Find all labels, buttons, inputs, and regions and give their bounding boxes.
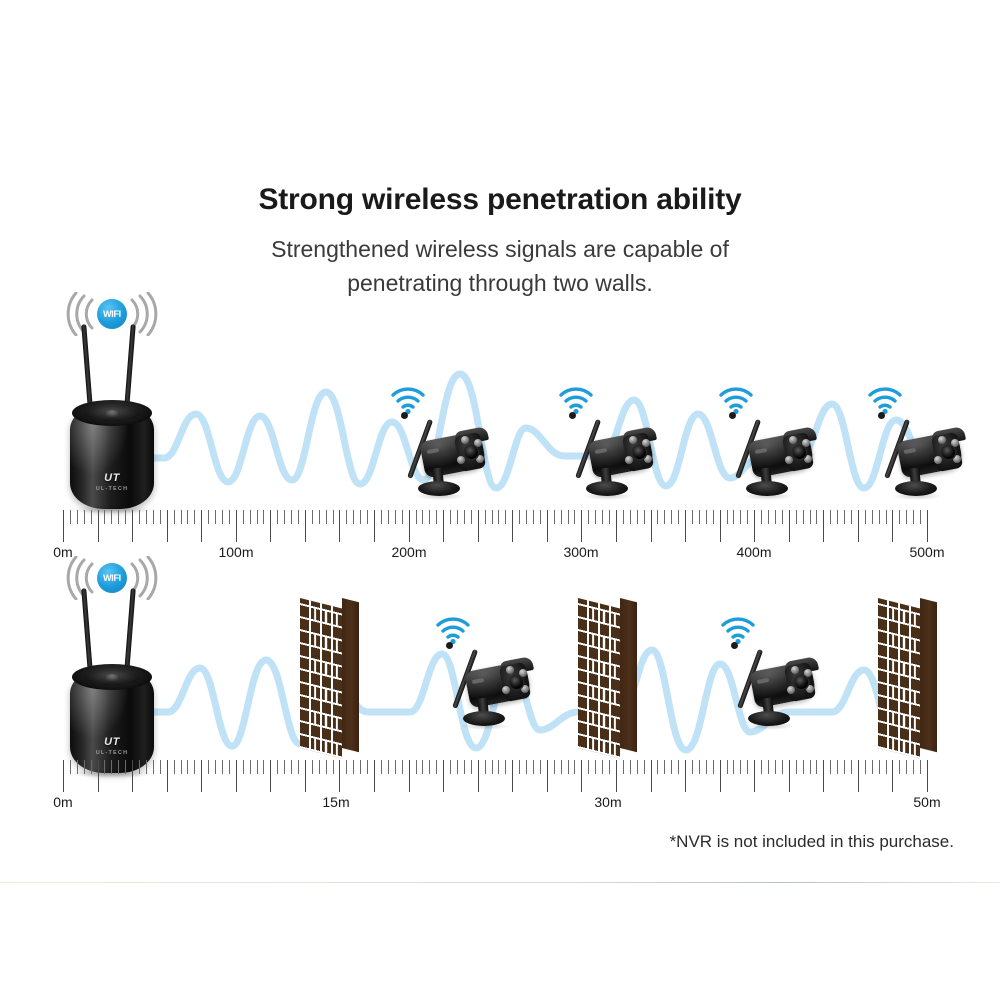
ruler-major-tick xyxy=(858,760,859,792)
ruler-minor-tick xyxy=(492,760,493,774)
ruler-label: 50m xyxy=(913,794,940,810)
ruler-minor-tick xyxy=(111,760,112,774)
ruler-major-tick xyxy=(305,760,306,792)
ruler-major-tick xyxy=(651,760,652,792)
camera-ir-led xyxy=(502,686,510,694)
ruler-minor-tick xyxy=(291,760,292,774)
ruler-minor-tick xyxy=(920,760,921,774)
ruler-minor-tick xyxy=(187,760,188,774)
ruler-minor-tick xyxy=(298,760,299,774)
ruler-minor-tick xyxy=(277,760,278,774)
ruler-minor-tick xyxy=(713,760,714,774)
ruler-minor-tick xyxy=(422,760,423,774)
ruler-minor-tick xyxy=(429,760,430,774)
ruler-bottom: 0m15m30m50m xyxy=(63,760,927,812)
brick-wall-side xyxy=(342,598,359,752)
brick-wall-face xyxy=(300,598,342,758)
ruler-minor-tick xyxy=(540,760,541,774)
brick-stagger-overlay xyxy=(300,598,342,758)
ruler-minor-tick xyxy=(526,760,527,774)
ruler-major-tick xyxy=(512,760,513,792)
ruler-minor-tick xyxy=(533,760,534,774)
ruler-major-tick xyxy=(720,760,721,792)
ruler-major-tick xyxy=(409,760,410,792)
ruler-minor-tick xyxy=(222,760,223,774)
wifi-badge-bottom: WIFI xyxy=(66,556,158,600)
ruler-minor-tick xyxy=(678,760,679,774)
ruler-minor-tick xyxy=(91,760,92,774)
wifi-signal-icon xyxy=(719,614,757,644)
nvr-top-indicator xyxy=(104,674,120,681)
ruler-major-tick xyxy=(270,760,271,792)
brick-wall-2 xyxy=(578,598,640,748)
ruler-minor-tick xyxy=(471,760,472,774)
ruler-minor-tick xyxy=(747,760,748,774)
ruler-major-tick xyxy=(581,760,582,792)
infographic-canvas: Strong wireless penetration ability Stre… xyxy=(0,0,1000,1000)
brick-stagger-overlay xyxy=(878,598,920,758)
ruler-minor-tick xyxy=(250,760,251,774)
ruler-minor-tick xyxy=(360,760,361,774)
ruler-minor-tick xyxy=(865,760,866,774)
ruler-minor-tick xyxy=(574,760,575,774)
ruler-minor-tick xyxy=(153,760,154,774)
ruler-minor-tick xyxy=(768,760,769,774)
ruler-minor-tick xyxy=(761,760,762,774)
ruler-minor-tick xyxy=(77,760,78,774)
ruler-major-tick xyxy=(132,760,133,792)
nvr-device-bottom[interactable]: WIFI UT UL-TECH xyxy=(56,560,168,775)
ruler-minor-tick xyxy=(623,760,624,774)
ruler-minor-tick xyxy=(194,760,195,774)
ruler-major-tick xyxy=(98,760,99,792)
brick-wall-face xyxy=(878,598,920,758)
ruler-minor-tick xyxy=(602,760,603,774)
wifi-badge-label: WIFI xyxy=(97,563,127,593)
ruler-label: 30m xyxy=(594,794,621,810)
ruler-minor-tick xyxy=(692,760,693,774)
ruler-minor-tick xyxy=(104,760,105,774)
wifi-signal-icon xyxy=(434,614,472,644)
ruler-minor-tick xyxy=(588,760,589,774)
ruler-minor-tick xyxy=(215,760,216,774)
ruler-minor-tick xyxy=(879,760,880,774)
ruler-minor-tick xyxy=(644,760,645,774)
ruler-minor-tick xyxy=(263,760,264,774)
ruler-minor-tick xyxy=(284,760,285,774)
ruler-minor-tick xyxy=(457,760,458,774)
ruler-minor-tick xyxy=(657,760,658,774)
ruler-major-tick xyxy=(443,760,444,792)
ruler-minor-tick xyxy=(706,760,707,774)
ruler-major-tick xyxy=(823,760,824,792)
ruler-major-tick xyxy=(754,760,755,792)
ruler-minor-tick xyxy=(630,760,631,774)
ruler-minor-tick xyxy=(125,760,126,774)
brand-logo: UT xyxy=(56,736,168,748)
camera-antenna-tip xyxy=(731,642,738,649)
ruler-minor-tick xyxy=(727,760,728,774)
camera-30m[interactable] xyxy=(725,628,821,738)
ruler-minor-tick xyxy=(367,760,368,774)
ruler-minor-tick xyxy=(872,760,873,774)
ruler-minor-tick xyxy=(381,760,382,774)
footnote-nvr-disclaimer: *NVR is not included in this purchase. xyxy=(670,832,954,852)
ruler-minor-tick xyxy=(436,760,437,774)
ruler-minor-tick xyxy=(796,760,797,774)
ruler-minor-tick xyxy=(139,760,140,774)
ruler-minor-tick xyxy=(609,760,610,774)
camera-lens xyxy=(510,676,523,689)
ruler-minor-tick xyxy=(775,760,776,774)
ruler-major-tick xyxy=(616,760,617,792)
ruler-minor-tick xyxy=(333,760,334,774)
section-divider xyxy=(0,882,1000,883)
ruler-major-tick xyxy=(167,760,168,792)
ruler-minor-tick xyxy=(208,760,209,774)
ruler-minor-tick xyxy=(326,760,327,774)
ruler-minor-tick xyxy=(464,760,465,774)
ruler-major-tick xyxy=(547,760,548,792)
ruler-minor-tick xyxy=(740,760,741,774)
ruler-minor-tick xyxy=(830,760,831,774)
ruler-minor-tick xyxy=(174,760,175,774)
ruler-minor-tick xyxy=(395,760,396,774)
ruler-minor-tick xyxy=(505,760,506,774)
ruler-minor-tick xyxy=(243,760,244,774)
ruler-tick-group xyxy=(63,760,927,794)
camera-antenna-tip xyxy=(446,642,453,649)
ruler-minor-tick xyxy=(498,760,499,774)
ruler-minor-tick xyxy=(899,760,900,774)
ruler-major-tick xyxy=(892,760,893,792)
ruler-major-tick xyxy=(374,760,375,792)
ruler-minor-tick xyxy=(312,760,313,774)
ruler-minor-tick xyxy=(353,760,354,774)
ruler-minor-tick xyxy=(319,760,320,774)
brick-wall-1 xyxy=(300,598,362,748)
ruler-minor-tick xyxy=(664,760,665,774)
ruler-major-tick xyxy=(339,760,340,792)
ruler-minor-tick xyxy=(402,760,403,774)
ruler-label: 0m xyxy=(53,794,72,810)
ruler-major-tick xyxy=(927,760,928,792)
ruler-minor-tick xyxy=(146,760,147,774)
brand-logo-sub: UL-TECH xyxy=(56,750,168,756)
ruler-major-tick xyxy=(478,760,479,792)
ruler-minor-tick xyxy=(595,760,596,774)
ruler-minor-tick xyxy=(450,760,451,774)
brick-wall-face xyxy=(578,598,620,758)
ruler-minor-tick xyxy=(913,760,914,774)
ruler-minor-tick xyxy=(837,760,838,774)
through-wall-scene: WIFI UT UL-TECH xyxy=(0,0,1000,830)
ruler-minor-tick xyxy=(554,760,555,774)
ruler-minor-tick xyxy=(637,760,638,774)
ruler-minor-tick xyxy=(388,760,389,774)
camera-ir-led xyxy=(519,669,527,677)
ruler-minor-tick xyxy=(886,760,887,774)
camera-ir-led xyxy=(804,669,812,677)
ruler-minor-tick xyxy=(118,760,119,774)
ruler-minor-tick xyxy=(810,760,811,774)
ruler-minor-tick xyxy=(181,760,182,774)
ruler-minor-tick xyxy=(519,760,520,774)
camera-ir-led xyxy=(521,685,529,693)
ruler-minor-tick xyxy=(568,760,569,774)
ruler-major-tick xyxy=(685,760,686,792)
ruler-major-tick xyxy=(201,760,202,792)
brick-wall-side xyxy=(920,598,937,752)
ruler-minor-tick xyxy=(561,760,562,774)
camera-ir-led xyxy=(806,685,814,693)
ruler-minor-tick xyxy=(229,760,230,774)
ruler-minor-tick xyxy=(844,760,845,774)
ruler-minor-tick xyxy=(699,760,700,774)
ruler-minor-tick xyxy=(257,760,258,774)
ruler-minor-tick xyxy=(851,760,852,774)
camera-ir-led xyxy=(787,686,795,694)
ruler-minor-tick xyxy=(733,760,734,774)
ruler-minor-tick xyxy=(906,760,907,774)
camera-ground-shadow xyxy=(460,722,510,730)
ruler-major-tick xyxy=(789,760,790,792)
camera-ir-led xyxy=(506,666,514,674)
ruler-major-tick xyxy=(236,760,237,792)
brick-stagger-overlay xyxy=(578,598,620,758)
camera-lens xyxy=(795,676,808,689)
ruler-minor-tick xyxy=(485,760,486,774)
ruler-minor-tick xyxy=(416,760,417,774)
ruler-minor-tick xyxy=(346,760,347,774)
ruler-minor-tick xyxy=(160,760,161,774)
brick-wall-side xyxy=(620,598,637,752)
ruler-minor-tick xyxy=(84,760,85,774)
ruler-minor-tick xyxy=(782,760,783,774)
ruler-minor-tick xyxy=(671,760,672,774)
brick-wall-3 xyxy=(878,598,940,748)
ruler-label: 15m xyxy=(322,794,349,810)
camera-ground-shadow xyxy=(745,722,795,730)
ruler-minor-tick xyxy=(803,760,804,774)
ruler-minor-tick xyxy=(70,760,71,774)
ruler-minor-tick xyxy=(816,760,817,774)
camera-15m[interactable] xyxy=(440,628,536,738)
ruler-major-tick xyxy=(63,760,64,792)
camera-ir-led xyxy=(791,666,799,674)
